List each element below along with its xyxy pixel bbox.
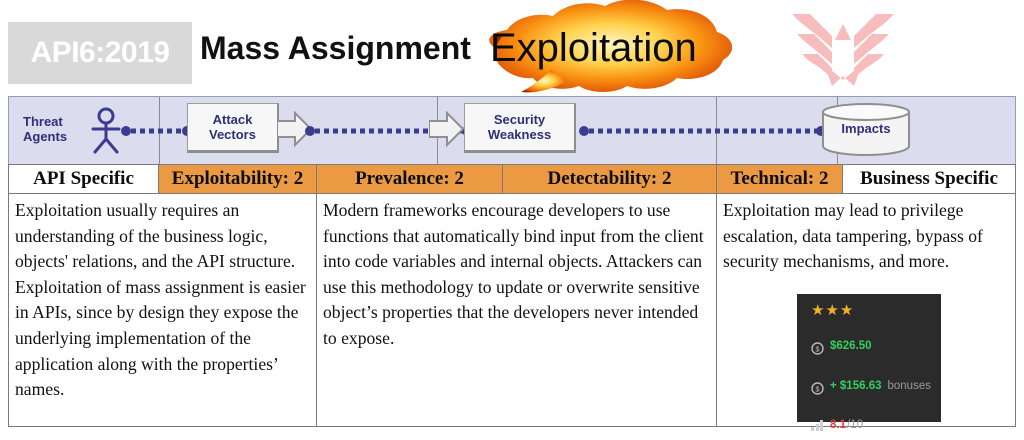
- score-row: 8.1 /10: [811, 413, 941, 439]
- security-weakness-node: Security Weakness: [464, 103, 576, 153]
- rating-cell-technical: Technical: 2: [717, 165, 843, 193]
- connector-threat-to-attack: [121, 124, 193, 134]
- threat-agents-label: Threat Agents: [23, 114, 85, 144]
- impacts-label: Impacts: [821, 121, 911, 136]
- wings-emblem-icon: [788, 8, 898, 92]
- risk-id-label: API6:2019: [31, 36, 170, 70]
- exploitation-overlay-label: Exploitation: [490, 26, 697, 71]
- reward-widget-panel: ★★★ $ $626.50 $: [797, 294, 941, 422]
- svg-text:$: $: [816, 347, 820, 354]
- score-value: 8.1: [830, 413, 846, 439]
- attack-vectors-node: Attack Vectors: [187, 103, 279, 153]
- impacts-text: Exploitation may lead to privilege escal…: [723, 200, 983, 271]
- svg-text:$: $: [816, 386, 820, 393]
- balance-row: $ $626.50: [811, 334, 941, 360]
- rating-cell-detectability: Detectability: 2: [503, 165, 717, 193]
- rating-cell-api-specific: API Specific: [9, 165, 159, 193]
- threat-agent-person-icon: [89, 107, 123, 155]
- impacts-cell: Exploitation may lead to privilege escal…: [717, 194, 1015, 426]
- coin-icon: $: [811, 340, 824, 353]
- security-weakness-text: Modern frameworks encourage developers t…: [323, 200, 704, 348]
- api-security-top10-card: API6:2019 Mass Assignment: [0, 0, 1024, 440]
- balance-amount: $626.50: [830, 334, 872, 360]
- description-row: Exploitation usually requires an underst…: [8, 194, 1016, 427]
- risk-id-badge: API6:2019: [8, 22, 192, 84]
- bonus-label: bonuses: [887, 374, 930, 400]
- attack-vectors-text: Exploitation usually requires an underst…: [15, 200, 306, 399]
- attack-flow-diagram: Threat Agents: [8, 96, 1016, 164]
- star-rating-icon: ★★★: [811, 302, 941, 320]
- attack-vectors-cell: Exploitation usually requires an underst…: [9, 194, 317, 426]
- bonus-row: $ + $156.63 bonuses: [811, 374, 941, 400]
- score-max: /10: [847, 413, 863, 439]
- page-title: Mass Assignment: [200, 30, 471, 67]
- rating-cell-prevalence: Prevalence: 2: [317, 165, 503, 193]
- connector-weakness-to-impacts: [579, 124, 827, 134]
- signal-bars-icon: [811, 420, 824, 431]
- security-weakness-label: Security Weakness: [488, 112, 551, 142]
- security-weakness-cell: Modern frameworks encourage developers t…: [317, 194, 717, 426]
- rating-cell-exploitability: Exploitability: 2: [159, 165, 317, 193]
- attack-vectors-label: Attack Vectors: [209, 112, 256, 142]
- coin-icon-bonus: $: [811, 380, 824, 393]
- card-header: API6:2019 Mass Assignment: [0, 0, 1024, 96]
- arrow-right-icon-2: [429, 111, 465, 152]
- bonus-amount: + $156.63: [830, 374, 881, 400]
- rating-cell-business-specific: Business Specific: [843, 165, 1015, 193]
- rating-header-row: API Specific Exploitability: 2 Prevalenc…: [8, 164, 1016, 194]
